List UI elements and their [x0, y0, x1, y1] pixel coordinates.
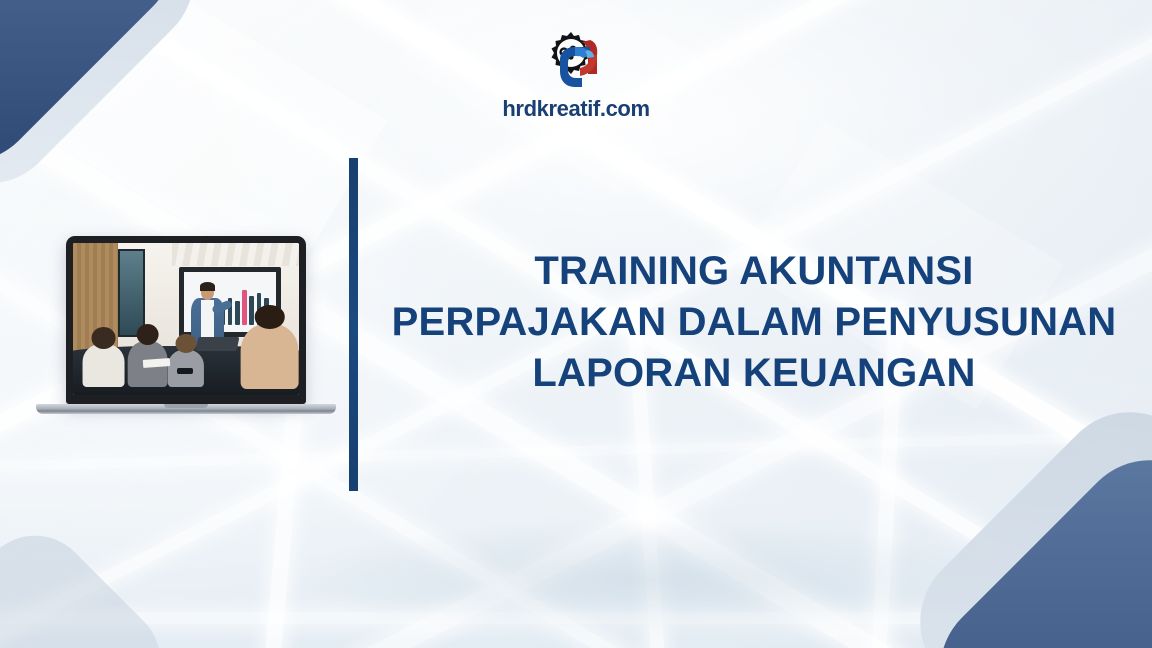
attendee: [127, 324, 168, 385]
laptop-notch: [164, 404, 208, 408]
table-paper: [143, 358, 171, 367]
meeting-photo: [73, 243, 299, 395]
gear-hrd-logo-icon: [538, 28, 614, 94]
attendee: [82, 327, 125, 385]
laptop-mockup: [36, 236, 336, 416]
title-line-2: PERPAJAKAN DALAM PENYUSUNAN: [378, 297, 1130, 348]
room-ceiling: [172, 243, 299, 266]
brand-logo: hrdkreatif.com: [0, 28, 1152, 120]
page-title: TRAINING AKUNTANSI PERPAJAKAN DALAM PENY…: [378, 246, 1130, 398]
table-laptop: [196, 337, 240, 351]
vertical-accent-bar: [349, 158, 358, 491]
laptop-screen: [73, 243, 299, 395]
laptop-lid: [66, 236, 306, 404]
table-phone: [177, 368, 193, 374]
brand-logo-text: hrdkreatif.com: [502, 98, 649, 120]
title-line-1: TRAINING AKUNTANSI: [378, 246, 1130, 297]
light-haze: [300, 520, 1000, 640]
title-line-3: LAPORAN KEUANGAN: [378, 348, 1130, 399]
attendee: [240, 305, 299, 384]
training-banner: hrdkreatif.com TRAINING AKUNTANSI PERPAJ…: [0, 0, 1152, 648]
